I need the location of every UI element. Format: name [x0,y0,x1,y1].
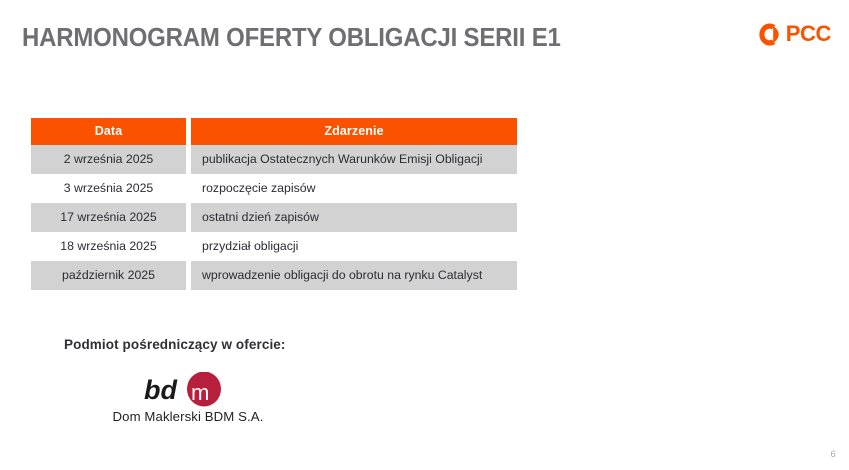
table-header-row: Data Zdarzenie [31,118,517,145]
table-row: październik 2025 wprowadzenie obligacji … [31,261,517,290]
bdm-caption: Dom Maklerski BDM S.A. [88,409,288,424]
slide-header: HARMONOGRAM OFERTY OBLIGACJI SERII E1 PC… [0,0,849,78]
column-header-date: Data [31,118,186,145]
cell-event: rozpoczęcie zapisów [191,174,517,203]
table-row: 17 września 2025 ostatni dzień zapisów [31,203,517,232]
cell-date: 2 września 2025 [31,145,186,174]
table-body: 2 września 2025 publikacja Ostatecznych … [31,145,517,290]
harmonogram-table: Data Zdarzenie 2 września 2025 publikacj… [31,118,517,290]
table-header: Data Zdarzenie [31,118,517,145]
pcc-logo: PCC [758,20,831,48]
table-row: 2 września 2025 publikacja Ostatecznych … [31,145,517,174]
pcc-wordmark: PCC [786,23,831,45]
cell-event: ostatni dzień zapisów [191,203,517,232]
cell-date: 18 września 2025 [31,232,186,261]
pcc-circle-swoosh-icon [758,23,781,46]
bdm-logo: bd m [88,372,288,408]
cell-date: 17 września 2025 [31,203,186,232]
slide: HARMONOGRAM OFERTY OBLIGACJI SERII E1 PC… [0,0,849,470]
cell-event: przydział obligacji [191,232,517,261]
page-number: 6 [831,449,836,460]
column-header-event: Zdarzenie [191,118,517,145]
page-title: HARMONOGRAM OFERTY OBLIGACJI SERII E1 [22,24,561,53]
table-row: 3 września 2025 rozpoczęcie zapisów [31,174,517,203]
svg-text:bd: bd [144,375,177,405]
bdm-logo-block: bd m Dom Maklerski BDM S.A. [88,372,288,424]
cell-event: wprowadzenie obligacji do obrotu na rynk… [191,261,517,290]
cell-date: 3 września 2025 [31,174,186,203]
table-row: 18 września 2025 przydział obligacji [31,232,517,261]
cell-date: październik 2025 [31,261,186,290]
cell-event: publikacja Ostatecznych Warunków Emisji … [191,145,517,174]
svg-text:m: m [191,380,209,405]
intermediary-heading: Podmiot pośredniczący w ofercie: [64,337,286,352]
